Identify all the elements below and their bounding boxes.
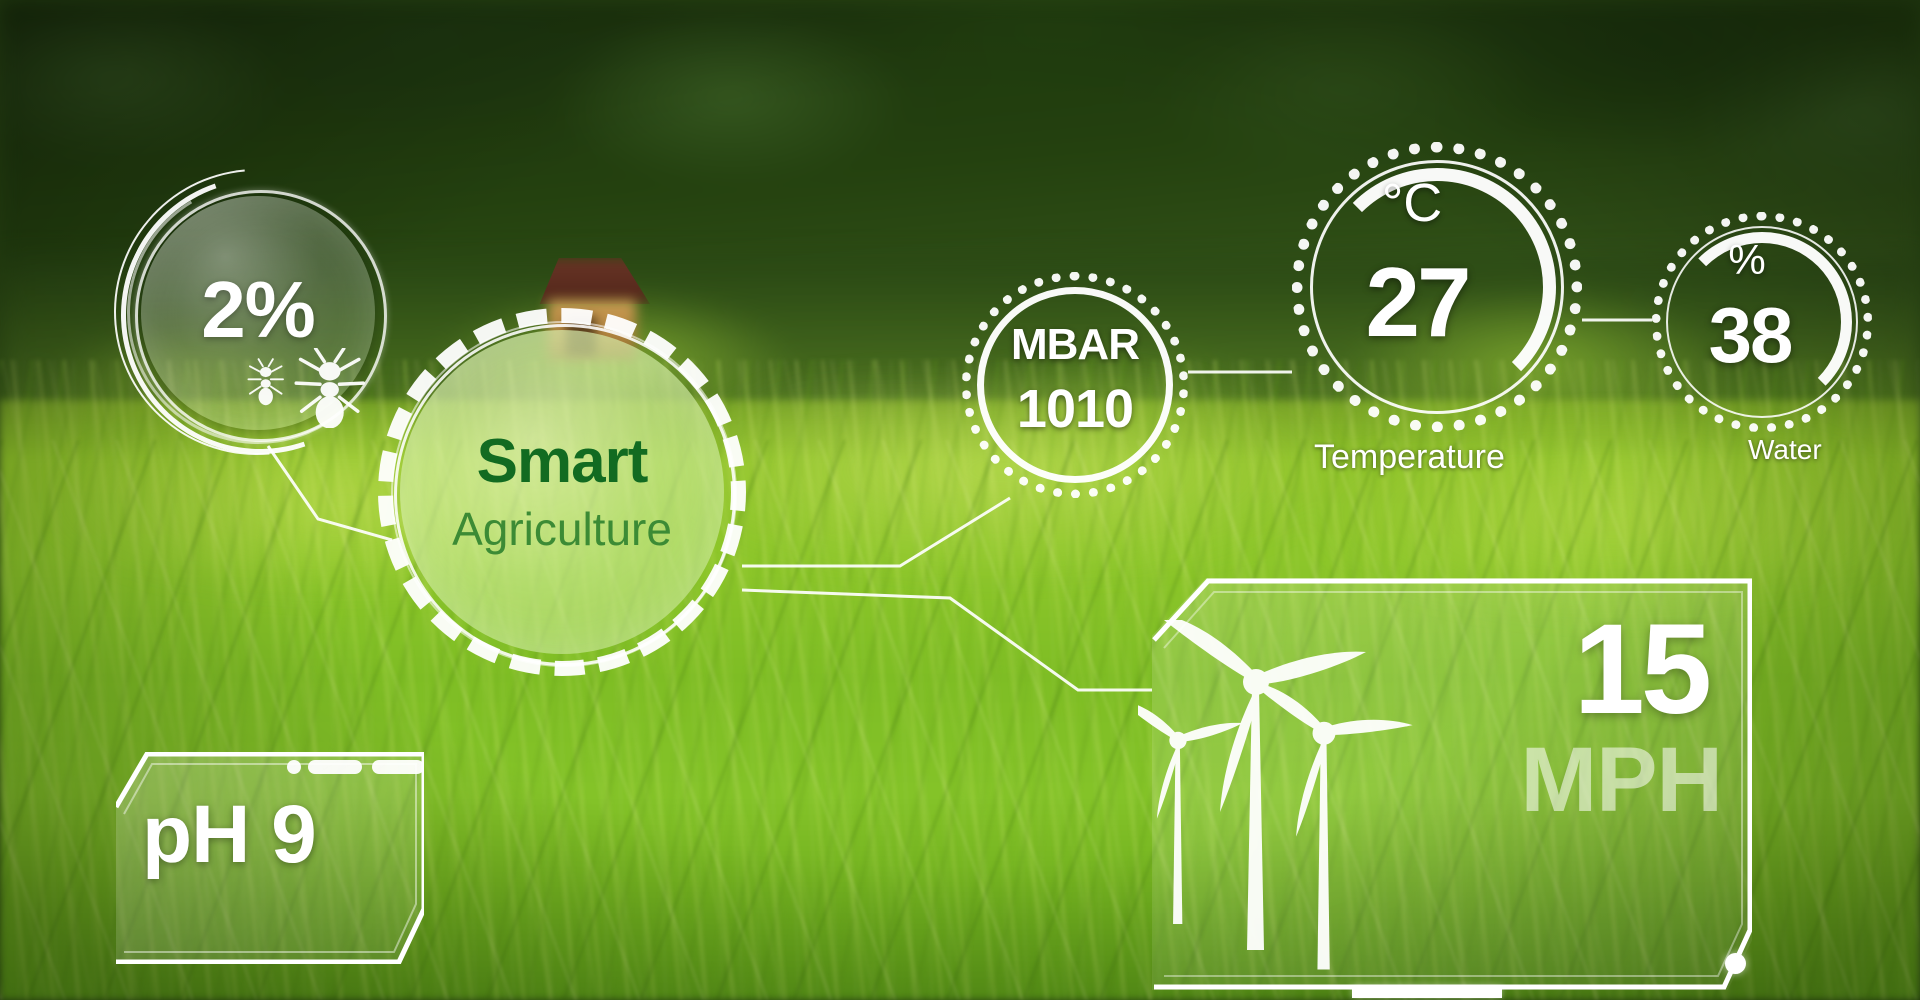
wind-panel-bottom-marker — [1352, 985, 1502, 998]
ph-panel[interactable]: pH 9 — [116, 752, 424, 964]
smart-agriculture-dashboard: 2% — [0, 0, 1920, 1000]
wind-unit: MPH — [1521, 728, 1722, 833]
temperature-caption: Temperature — [1314, 438, 1505, 477]
link-core-to-pressure — [742, 498, 1010, 566]
brand-circle[interactable]: Smart Agriculture — [378, 308, 746, 676]
brand-subtitle: Agriculture — [378, 502, 746, 556]
temperature-value: 27 — [1292, 246, 1542, 359]
temperature-unit: °C — [1292, 172, 1532, 234]
water-gauge[interactable]: % 38 Water — [1652, 212, 1872, 432]
pest-value: 2% — [113, 264, 403, 356]
brand-title: Smart — [378, 426, 746, 497]
wind-value: 15 — [1574, 596, 1708, 743]
link-core-to-wind — [742, 590, 1152, 690]
wind-panel[interactable]: 15 MPH — [1152, 578, 1752, 990]
pressure-value: 1010 — [962, 378, 1188, 440]
insect-icon — [237, 348, 387, 428]
water-unit: % — [1652, 236, 1842, 284]
link-pest-to-core — [268, 446, 392, 540]
ph-value: pH 9 — [142, 788, 412, 882]
pest-gauge[interactable]: 2% — [113, 168, 403, 458]
pressure-unit: MBAR — [962, 320, 1188, 370]
wind-turbine-icon — [1138, 620, 1478, 980]
pressure-gauge[interactable]: MBAR 1010 — [962, 272, 1188, 498]
water-caption: Water — [1748, 434, 1822, 466]
water-value: 38 — [1652, 290, 1848, 381]
wind-panel-corner-dot — [1725, 953, 1746, 974]
temperature-gauge[interactable]: °C 27 Temperature — [1292, 142, 1582, 432]
